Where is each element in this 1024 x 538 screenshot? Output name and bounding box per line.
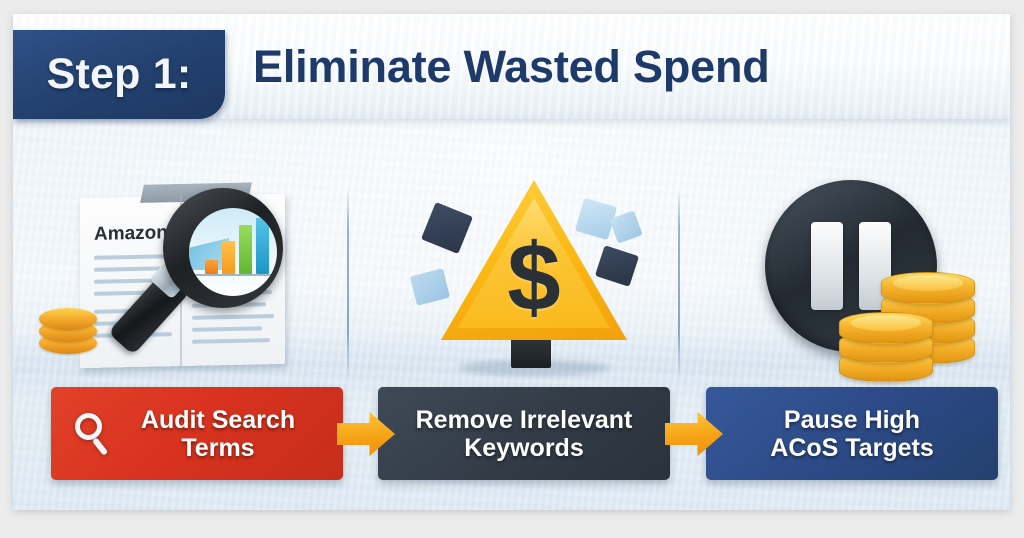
lens-chart-bar <box>239 225 252 274</box>
step-badge-label: Step 1: <box>47 50 192 99</box>
search-icon <box>75 413 117 455</box>
coin-stack-left <box>39 306 101 358</box>
illustration-warning-triangle: $ <box>413 172 653 380</box>
coin <box>881 272 975 304</box>
step-box-label-line1: Pause High <box>784 406 920 434</box>
coin-face <box>851 315 921 331</box>
lens-chart-bar <box>222 241 235 274</box>
step-box-pause-high-acos-targets[interactable]: Pause High ACoS Targets <box>706 387 998 480</box>
step-box-remove-irrelevant-keywords[interactable]: Remove Irrelevant Keywords <box>378 387 670 480</box>
pause-bar <box>811 222 843 310</box>
coin <box>839 312 933 344</box>
infographic-stage: Step 1: Eliminate Wasted Spend Amazon <box>0 0 1024 538</box>
illustration-pause-coins <box>753 172 1010 380</box>
step-box-label-line1: Remove Irrelevant <box>416 406 633 434</box>
column-divider-1 <box>347 189 349 381</box>
page-title-text: Eliminate Wasted Spend <box>253 41 770 93</box>
step-box-label: Audit Search Terms <box>99 406 295 462</box>
step-box-label: Pause High ACoS Targets <box>770 406 933 462</box>
illustration-document-magnifier: Amazon <box>35 174 335 379</box>
magnifier-lens <box>189 208 277 296</box>
arrow-icon-1 <box>337 411 395 457</box>
arrow-shape <box>337 411 395 457</box>
arrow-icon-2 <box>665 411 723 457</box>
column-divider-2 <box>678 189 680 381</box>
coin <box>39 308 97 330</box>
step-box-label-line1: Audit Search <box>141 406 295 434</box>
step-box-label: Remove Irrelevant Keywords <box>416 406 633 462</box>
magnifier-icon <box>153 184 293 354</box>
infographic-card: Step 1: Eliminate Wasted Spend Amazon <box>13 14 1010 510</box>
step-box-label-line2: Keywords <box>464 434 583 462</box>
page-title: Eliminate Wasted Spend <box>253 14 770 119</box>
step-box-label-line2: ACoS Targets <box>770 434 933 462</box>
arrow-shape <box>665 411 723 457</box>
lens-chart-baseline <box>195 274 271 276</box>
magnifier-ring <box>163 188 283 308</box>
step-badge: Step 1: <box>13 30 225 119</box>
search-icon-handle <box>92 437 108 456</box>
lens-chart-bar <box>205 260 218 274</box>
dollar-sign-icon: $ <box>441 218 627 338</box>
triangle-stand <box>511 338 551 368</box>
coin-face <box>893 275 963 291</box>
search-icon-lens <box>75 413 102 440</box>
lens-chart-bar <box>256 218 269 274</box>
header-bar: Step 1: Eliminate Wasted Spend <box>13 14 1010 119</box>
step-box-audit-search-terms[interactable]: Audit Search Terms <box>51 387 343 480</box>
step-box-label-line2: Terms <box>181 434 254 462</box>
